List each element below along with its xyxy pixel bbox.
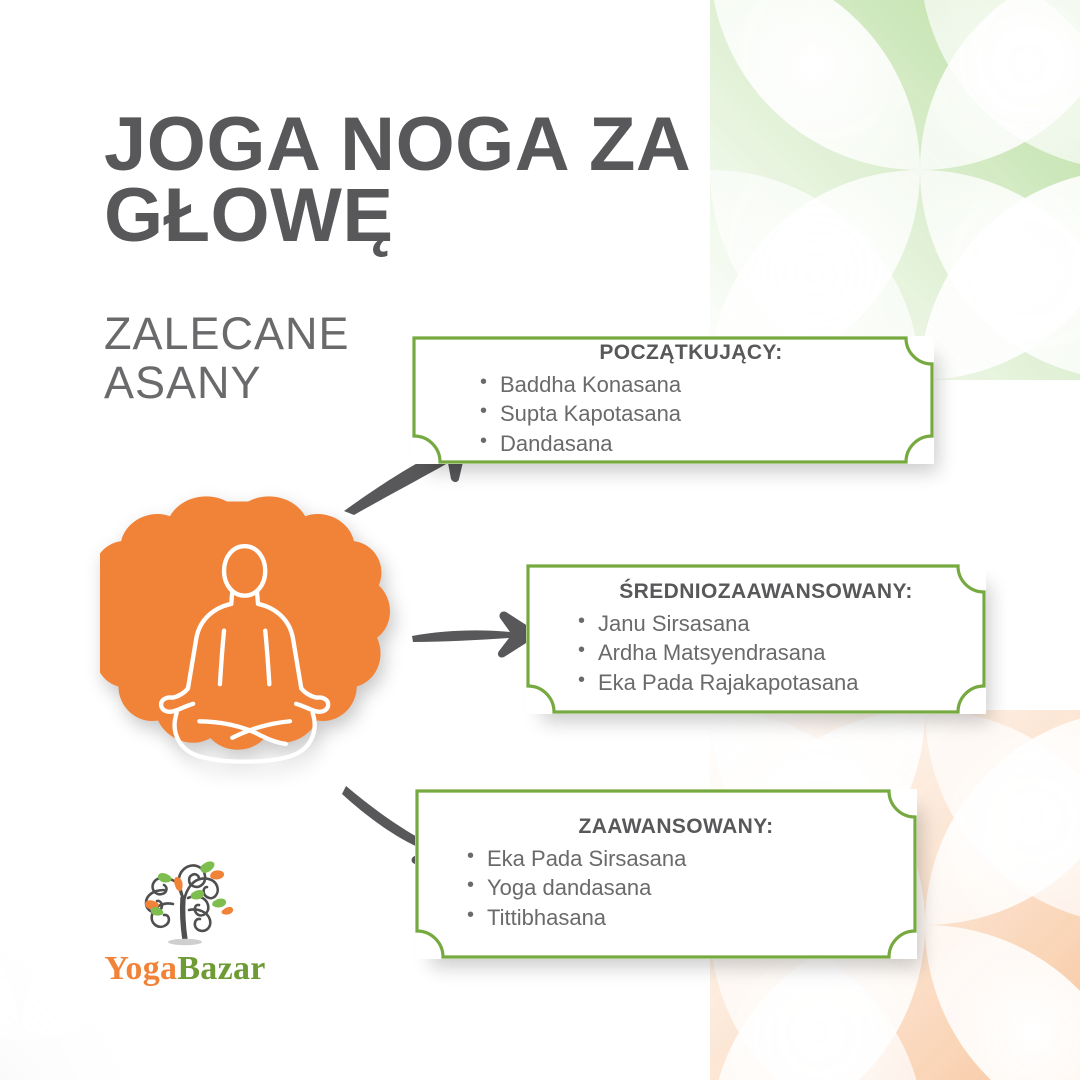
infographic-poster: JOGA NOGA ZA GŁOWĘ ZALECANE ASANY [0,0,1080,1080]
arrow-right-icon [410,608,538,660]
level-card-intermediate: ŚREDNIOZAAWANSOWANY: Janu Sirsasana Ardh… [526,564,986,714]
level-card-beginner: POCZĄTKUJĄCY: Baddha Konasana Supta Kapo… [412,336,934,464]
asana-item: Janu Sirsasana [572,610,960,638]
level-card-advanced: ZAAWANSOWANY: Eka Pada Sirsasana Yoga da… [415,789,917,959]
asana-list: Janu Sirsasana Ardha Matsyendrasana Eka … [572,608,960,699]
brand-name-part1: Yoga [104,950,177,987]
asana-item: Baddha Konasana [474,371,908,399]
level-title: ZAAWANSOWANY: [461,815,891,839]
scalloped-blob-shape [100,496,390,749]
brand-name: YogaBazar [90,952,280,986]
asana-list: Eka Pada Sirsasana Yoga dandasana Tittib… [461,843,891,934]
brand-name-part2: Bazar [177,950,265,987]
page-title: JOGA NOGA ZA GŁOWĘ [104,110,844,251]
asana-list: Baddha Konasana Supta Kapotasana Dandasa… [474,369,908,460]
page-subtitle: ZALECANE ASANY [104,310,444,407]
asana-item: Dandasana [474,430,908,458]
asana-item: Ardha Matsyendrasana [572,639,960,667]
asana-item: Eka Pada Sirsasana [461,845,891,873]
asana-item: Eka Pada Rajakapotasana [572,669,960,697]
spiral-tree-icon [126,848,244,948]
level-title: POCZĄTKUJĄCY: [474,341,908,365]
level-title: ŚREDNIOZAAWANSOWANY: [572,580,960,604]
asana-item: Supta Kapotasana [474,400,908,428]
asana-item: Yoga dandasana [461,874,891,902]
lotus-meditation-badge [100,488,396,766]
brand-logo: YogaBazar [90,848,280,986]
asana-item: Tittibhasana [461,904,891,932]
